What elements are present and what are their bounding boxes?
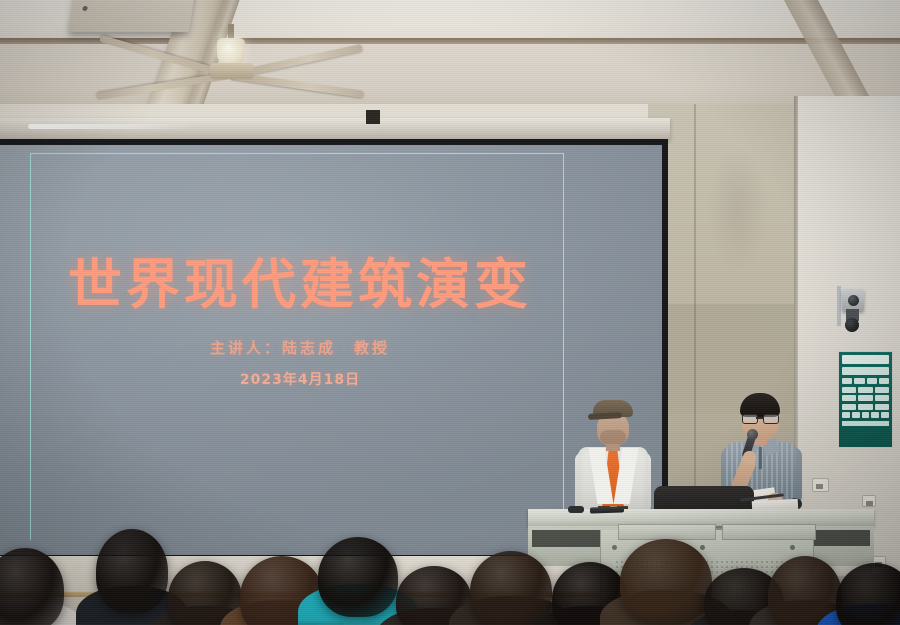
housing-screw	[82, 6, 88, 11]
fan-light-icon	[217, 38, 245, 66]
eyeglasses-icon	[742, 414, 779, 422]
console-screw	[700, 545, 705, 550]
lens-left	[742, 414, 758, 424]
poster-row	[842, 404, 889, 410]
poster-node	[875, 387, 889, 393]
camera-lens	[848, 295, 859, 306]
face-shadow	[600, 430, 626, 444]
console-screw	[790, 545, 795, 550]
camera-dome	[845, 318, 859, 332]
poster-node	[871, 412, 879, 418]
polo-placket	[759, 447, 762, 469]
audience-member-head	[470, 551, 552, 625]
audience-member-head	[620, 539, 712, 625]
poster-footer	[842, 421, 889, 426]
ceiling-lower-soffit	[0, 44, 900, 106]
case-highlight	[28, 124, 198, 129]
slide-date: 2023年4月18日	[0, 369, 600, 389]
console-right-slot	[814, 530, 870, 546]
slide-subtitle: 主讲人：陆志成 教授	[0, 337, 600, 358]
remote-on-desk	[568, 506, 584, 513]
projector-housing	[69, 0, 195, 32]
poster-node	[842, 387, 856, 393]
projector-screen-case	[0, 118, 670, 140]
audience-member-head	[318, 537, 398, 617]
poster-node	[842, 395, 856, 401]
poster-node	[867, 378, 877, 384]
poster-node	[875, 404, 889, 410]
poster-node	[842, 412, 850, 418]
poster-header	[842, 355, 889, 364]
console-equipment-drawer[interactable]	[722, 524, 816, 540]
poster-row	[842, 387, 889, 393]
lens-right	[763, 414, 779, 424]
poster-node	[862, 412, 870, 418]
poster-node	[854, 378, 864, 384]
smartphone-on-desk	[590, 506, 624, 513]
poster-node	[879, 378, 889, 384]
poster-row	[842, 412, 889, 418]
hand-holding-mic	[743, 451, 756, 464]
column-stain	[708, 144, 768, 274]
screen-mount-bracket	[366, 110, 380, 124]
poster-node	[858, 404, 872, 410]
poster-row	[842, 395, 889, 401]
wall-switch[interactable]	[862, 495, 876, 507]
camera-mount-arm	[837, 286, 841, 326]
poster-row	[842, 378, 889, 384]
safety-flowchart-poster	[838, 351, 893, 448]
poster-node	[858, 387, 872, 393]
microphone-head	[747, 429, 758, 440]
poster-intro-box	[842, 367, 889, 375]
console-screw	[612, 545, 617, 550]
right-wall	[798, 96, 900, 576]
poster-node	[852, 412, 860, 418]
projection-edge-top	[30, 153, 564, 154]
slide-title: 世界现代建筑演变	[0, 240, 600, 319]
poster-node	[881, 412, 889, 418]
poster-node	[842, 404, 856, 410]
poster-node	[875, 395, 889, 401]
fan-hub	[210, 63, 254, 79]
wall-switch[interactable]	[812, 478, 829, 492]
console-equipment-drawer[interactable]	[618, 524, 716, 540]
poster-node	[842, 378, 852, 384]
glasses-bridge	[756, 417, 763, 419]
poster-node	[858, 395, 872, 401]
speaker-secondary	[576, 400, 650, 518]
lecture-hall-photo: 世界现代建筑演变 主讲人：陆志成 教授 2023年4月18日	[0, 0, 900, 625]
ceiling-fan-icon	[160, 52, 440, 102]
audience-member-head	[96, 529, 168, 613]
